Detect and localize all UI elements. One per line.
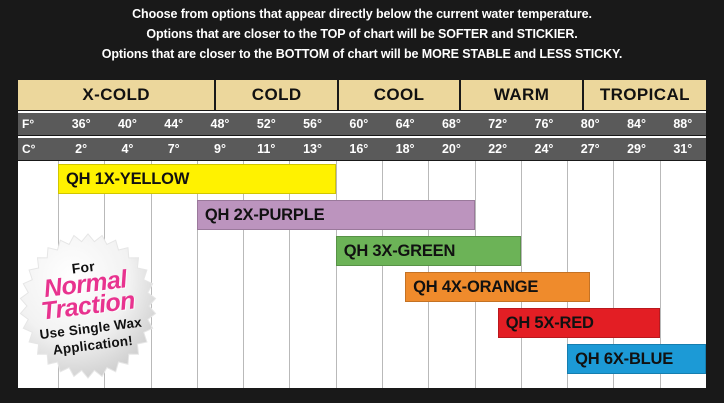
fahrenheit-tick-4: 52° xyxy=(243,113,289,135)
instruction-line-3: Options that are closer to the BOTTOM of… xyxy=(0,44,724,64)
wax-bar-qh-2x-purple[interactable]: QH 2X-PURPLE xyxy=(197,200,475,230)
celsius-tick-7: 18° xyxy=(382,138,428,160)
temperature-band-warm: WARM xyxy=(461,80,583,110)
gridline-6 xyxy=(336,161,337,388)
band-header-row: X-COLDCOLDCOOLWARMTROPICAL xyxy=(18,80,706,110)
wax-bar-label: QH 4X-ORANGE xyxy=(406,278,538,297)
celsius-tick-8: 20° xyxy=(428,138,474,160)
celsius-tick-3: 9° xyxy=(197,138,243,160)
instruction-line-1: Choose from options that appear directly… xyxy=(0,4,724,24)
fahrenheit-tick-11: 80° xyxy=(567,113,613,135)
fahrenheit-unit-label: F° xyxy=(18,113,58,135)
wax-bar-qh-1x-yellow[interactable]: QH 1X-YELLOW xyxy=(58,164,336,194)
starburst-shape xyxy=(18,232,158,380)
gridline-5 xyxy=(289,161,290,388)
fahrenheit-tick-9: 72° xyxy=(475,113,521,135)
gridline-4 xyxy=(243,161,244,388)
celsius-tick-11: 27° xyxy=(567,138,613,160)
celsius-tick-9: 22° xyxy=(475,138,521,160)
celsius-tick-5: 13° xyxy=(289,138,335,160)
fahrenheit-tick-0: 36° xyxy=(58,113,104,135)
fahrenheit-tick-8: 68° xyxy=(428,113,474,135)
temperature-band-tropical: TROPICAL xyxy=(584,80,706,110)
celsius-tick-4: 11° xyxy=(243,138,289,160)
wax-bar-qh-3x-green[interactable]: QH 3X-GREEN xyxy=(336,236,521,266)
wax-bar-label: QH 1X-YELLOW xyxy=(59,170,189,189)
temperature-band-cool: COOL xyxy=(339,80,461,110)
fahrenheit-tick-3: 48° xyxy=(197,113,243,135)
fahrenheit-tick-10: 76° xyxy=(521,113,567,135)
celsius-tick-2: 7° xyxy=(151,138,197,160)
temperature-band-x-cold: X-COLD xyxy=(18,80,216,110)
wax-bar-label: QH 2X-PURPLE xyxy=(198,206,325,225)
normal-traction-badge: For Normal Traction Use Single Wax Appli… xyxy=(18,232,158,380)
temperature-band-cold: COLD xyxy=(216,80,338,110)
celsius-tick-6: 16° xyxy=(336,138,382,160)
fahrenheit-tick-1: 40° xyxy=(104,113,150,135)
celsius-tick-12: 29° xyxy=(613,138,659,160)
celsius-unit-label: C° xyxy=(18,138,58,160)
fahrenheit-scale-row: F°36°40°44°48°52°56°60°64°68°72°76°80°84… xyxy=(18,111,706,135)
wax-bar-qh-6x-blue[interactable]: QH 6X-BLUE xyxy=(567,344,706,374)
wax-bar-qh-4x-orange[interactable]: QH 4X-ORANGE xyxy=(405,272,590,302)
celsius-tick-13: 31° xyxy=(660,138,706,160)
fahrenheit-tick-7: 64° xyxy=(382,113,428,135)
gridline-7 xyxy=(382,161,383,388)
instruction-line-2: Options that are closer to the TOP of ch… xyxy=(0,24,724,44)
fahrenheit-tick-2: 44° xyxy=(151,113,197,135)
fahrenheit-tick-13: 88° xyxy=(660,113,706,135)
fahrenheit-tick-5: 56° xyxy=(289,113,335,135)
fahrenheit-tick-12: 84° xyxy=(613,113,659,135)
wax-bar-label: QH 5X-RED xyxy=(499,314,594,333)
instructions-block: Choose from options that appear directly… xyxy=(0,4,724,64)
celsius-tick-10: 24° xyxy=(521,138,567,160)
wax-temperature-chart: Choose from options that appear directly… xyxy=(0,0,724,403)
celsius-tick-1: 4° xyxy=(104,138,150,160)
wax-bar-label: QH 6X-BLUE xyxy=(568,350,673,369)
gridline-3 xyxy=(197,161,198,388)
wax-bar-label: QH 3X-GREEN xyxy=(337,242,456,261)
fahrenheit-tick-6: 60° xyxy=(336,113,382,135)
celsius-tick-0: 2° xyxy=(58,138,104,160)
celsius-scale-row: C°2°4°7°9°11°13°16°18°20°22°24°27°29°31° xyxy=(18,136,706,160)
wax-bar-qh-5x-red[interactable]: QH 5X-RED xyxy=(498,308,660,338)
